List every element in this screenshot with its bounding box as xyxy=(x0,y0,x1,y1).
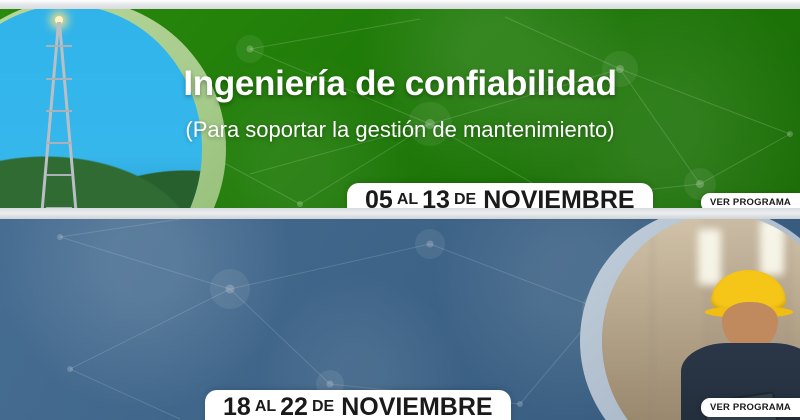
banner-ingenieria-confiabilidad[interactable]: Ingeniería de confiabilidad (Para soport… xyxy=(0,9,800,208)
banner-2-ver-programa-button[interactable]: VER PROGRAMA xyxy=(701,398,800,417)
banner-1-subtitle: (Para soportar la gestión de mantenimien… xyxy=(185,117,614,143)
mountain-shape xyxy=(0,132,202,208)
banner-2-date-badge: 18 AL 22 DE NOVIEMBRE xyxy=(205,390,511,420)
worker-photo-circle xyxy=(580,219,800,420)
top-edge-strip xyxy=(0,0,800,9)
ver-programa-label: VER PROGRAMA xyxy=(710,402,791,413)
rig-photo xyxy=(0,9,202,208)
banner-1-title: Ingeniería de confiabilidad xyxy=(183,64,616,104)
date-preposition: DE xyxy=(308,398,338,416)
worker-photo xyxy=(602,219,800,420)
date-month: NOVIEMBRE xyxy=(338,393,492,420)
banner-divider xyxy=(0,208,800,219)
date-connector: AL xyxy=(393,191,422,209)
date-connector: AL xyxy=(251,398,280,416)
banner-carousel: Ingeniería de confiabilidad (Para soport… xyxy=(0,0,800,420)
drilling-rig-shape xyxy=(42,22,76,208)
date-preposition: DE xyxy=(450,191,480,209)
ver-programa-label: VER PROGRAMA xyxy=(710,197,791,208)
date-end: 22 xyxy=(280,393,308,420)
date-start: 18 xyxy=(223,393,251,420)
